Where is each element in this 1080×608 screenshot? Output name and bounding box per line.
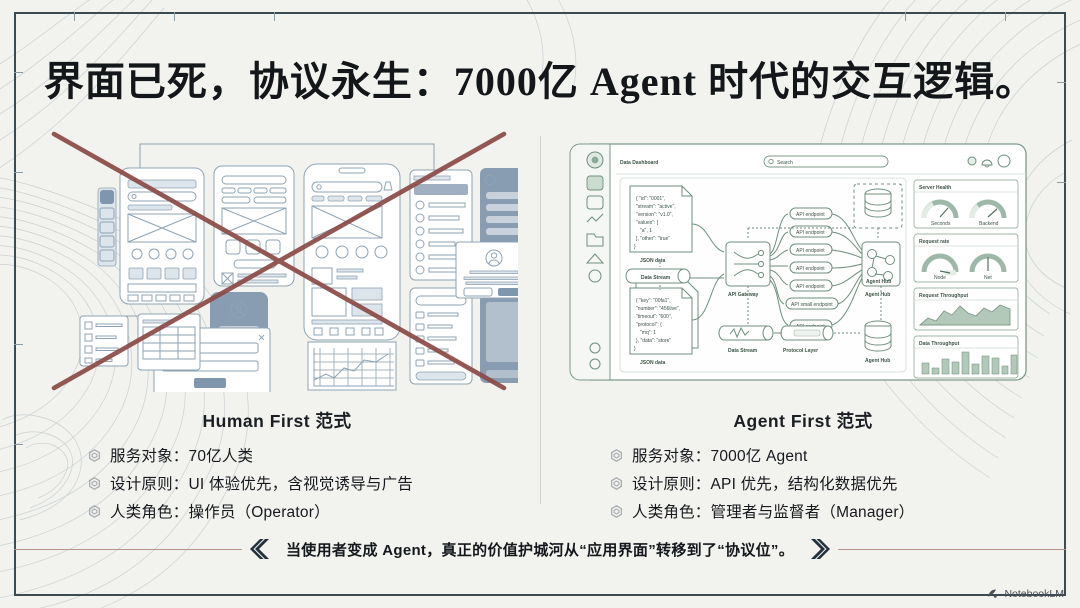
svg-text:JSON data: JSON data (640, 258, 666, 264)
svg-text:JSON data: JSON data (640, 360, 666, 366)
svg-text:Data Stream: Data Stream (728, 348, 758, 354)
list-item: 设计原则：API 优先，结构化数据优先 (610, 473, 1044, 497)
page-title: 界面已死，协议永生：7000亿 Agent 时代的交互逻辑。 (14, 60, 1066, 104)
hex-bullet-icon (610, 449, 623, 462)
svg-text:Net: Net (984, 275, 992, 281)
slide-content: 界面已死，协议永生：7000亿 Agent 时代的交互逻辑。 (14, 12, 1066, 596)
ui-wireframe-collage-crossed-out (36, 130, 518, 392)
svg-text:Agent Hub: Agent Hub (865, 292, 890, 298)
svg-text:API endpoint: API endpoint (796, 212, 825, 218)
svg-text:"values": [: "values": [ (636, 220, 659, 226)
svg-text:Server Health: Server Health (919, 185, 951, 191)
watermark-label: NotebookLM (1004, 588, 1064, 600)
svg-text:Request Throughput: Request Throughput (919, 293, 968, 299)
svg-text:"version": "v1.0",: "version": "v1.0", (636, 212, 673, 218)
svg-text:"timeout": "600",: "timeout": "600", (636, 314, 672, 320)
svg-text:"protocol": {: "protocol": { (636, 322, 662, 328)
svg-text:Request rate: Request rate (919, 239, 950, 245)
svg-text:API small endpoint: API small endpoint (791, 302, 833, 308)
bullet-list-human-first: 服务对象：70亿人类 设计原则：UI 体验优先，含视觉诱导与广告 人类角色：操作… (36, 445, 518, 525)
svg-text:"mq": 1: "mq": 1 (640, 330, 656, 336)
column-human-first: Human First 范式 服务对象：70亿人类 设计原则：UI 体验优先，含… (14, 130, 540, 596)
svg-text:API Gateway: API Gateway (728, 292, 759, 298)
column-heading-human-first: Human First 范式 (36, 408, 518, 433)
svg-text:API endpoint: API endpoint (796, 266, 825, 272)
footer-rule-right (838, 549, 1066, 550)
agent-data-dashboard-diagram: Data Dashboard Search (562, 130, 1044, 392)
hex-bullet-icon (88, 477, 101, 490)
svg-text:Protocol Layer: Protocol Layer (783, 348, 818, 354)
svg-text:Agent Hub: Agent Hub (866, 279, 891, 285)
svg-text:"a", 1: "a", 1 (640, 228, 652, 234)
svg-text:API endpoint: API endpoint (796, 230, 825, 236)
list-item: 服务对象：70亿人类 (88, 445, 518, 469)
notebooklm-icon (987, 588, 999, 600)
svg-text:"stream": "active",: "stream": "active", (636, 204, 676, 210)
hex-bullet-icon (610, 477, 623, 490)
svg-text:"number": "456live",: "number": "456live", (636, 306, 680, 312)
bullet-list-agent-first: 服务对象：7000亿 Agent 设计原则：API 优先，结构化数据优先 人类角… (562, 445, 1044, 525)
list-item-text: 人类角色：管理者与监督者（Manager） (632, 501, 914, 525)
chevron-left-icon (248, 536, 274, 562)
svg-text:Data Throughput: Data Throughput (919, 341, 960, 347)
column-heading-agent-first: Agent First 范式 (562, 408, 1044, 433)
hex-bullet-icon (88, 449, 101, 462)
comparison-columns: Human First 范式 服务对象：70亿人类 设计原则：UI 体验优先，含… (14, 130, 1066, 596)
list-item-text: 人类角色：操作员（Operator） (110, 501, 330, 525)
svg-text:Data Stream: Data Stream (641, 275, 671, 281)
svg-text:{ "id": "0001",: { "id": "0001", (636, 196, 665, 202)
svg-text:Search: Search (777, 160, 793, 166)
list-item: 人类角色：操作员（Operator） (88, 501, 518, 525)
svg-text:}, "data": "store": }, "data": "store" (636, 338, 671, 344)
svg-text:Seconds: Seconds (931, 221, 951, 227)
list-item-text: 服务对象：7000亿 Agent (632, 445, 808, 469)
list-item-text: 设计原则：API 优先，结构化数据优先 (632, 473, 898, 497)
notebooklm-watermark: NotebookLM (987, 588, 1064, 600)
svg-text:{ "key": "00fa1",: { "key": "00fa1", (636, 298, 671, 304)
list-item: 服务对象：7000亿 Agent (610, 445, 1044, 469)
svg-text:Node: Node (934, 275, 946, 281)
svg-text:Agent Hub: Agent Hub (865, 358, 890, 364)
list-item: 人类角色：管理者与监督者（Manager） (610, 501, 1044, 525)
hex-bullet-icon (610, 505, 623, 518)
svg-text:Backend: Backend (979, 221, 999, 227)
hex-bullet-icon (88, 505, 101, 518)
column-agent-first: Data Dashboard Search (540, 130, 1066, 596)
svg-text:API endpoint: API endpoint (796, 284, 825, 290)
list-item-text: 服务对象：70亿人类 (110, 445, 253, 469)
footer-banner: 当使用者变成 Agent，真正的价值护城河从“应用界面”转移到了“协议位”。 (14, 536, 1066, 562)
list-item: 设计原则：UI 体验优先，含视觉诱导与广告 (88, 473, 518, 497)
footer-rule-left (14, 549, 242, 550)
footer-text: 当使用者变成 Agent，真正的价值护城河从“应用界面”转移到了“协议位”。 (280, 539, 800, 560)
dashboard-title-text: Data Dashboard (620, 160, 658, 166)
svg-text:], "other": "true": ], "other": "true" (636, 236, 670, 242)
chevron-right-icon (806, 536, 832, 562)
svg-text:API endpoint: API endpoint (796, 248, 825, 254)
list-item-text: 设计原则：UI 体验优先，含视觉诱导与广告 (110, 473, 413, 497)
